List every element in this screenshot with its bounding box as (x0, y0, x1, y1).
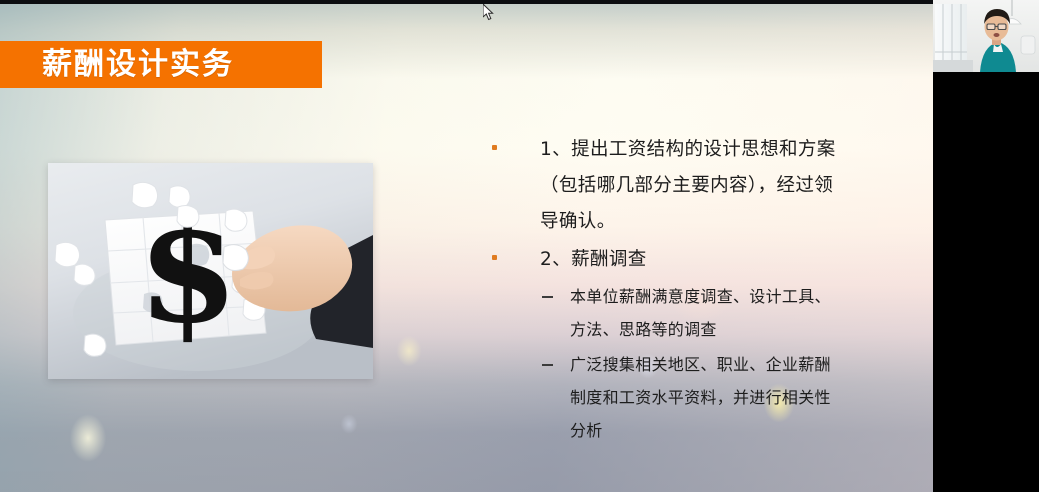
list-item-line: 导确认。 (540, 204, 900, 240)
shared-slide-area: 薪酬设计实务 (0, 0, 933, 492)
list-item: 1、提出工资结构的设计思想和方案 （包括哪几部分主要内容），经过领 导确认。 (480, 132, 900, 240)
list-item-line: 本单位薪酬满意度调查、设计工具、 (570, 280, 900, 313)
dollar-puzzle-photo: $ (48, 163, 373, 379)
webcam-video-tile[interactable] (933, 0, 1039, 72)
list-item-line: 方法、思路等的调查 (570, 313, 900, 346)
page-title: 薪酬设计实务 (0, 50, 234, 80)
slide-body-content: 1、提出工资结构的设计思想和方案 （包括哪几部分主要内容），经过领 导确认。 2… (480, 132, 900, 447)
participant-column (933, 0, 1039, 492)
bullet-dot-icon (492, 145, 497, 150)
bullet-dot-icon (492, 255, 497, 260)
mouse-pointer-icon (483, 4, 495, 22)
slide-top-edge-strip (0, 0, 933, 4)
slide-title-banner: 薪酬设计实务 (0, 41, 322, 88)
list-item-line: 广泛搜集相关地区、职业、企业薪酬 (570, 348, 900, 381)
bullet-dash-icon (542, 364, 553, 366)
list-item: 本单位薪酬满意度调查、设计工具、 方法、思路等的调查 (480, 280, 900, 346)
list-item-line: 2、薪酬调查 (540, 242, 900, 278)
list-item-line: 制度和工资水平资料，并进行相关性 (570, 381, 900, 414)
list-item: 广泛搜集相关地区、职业、企业薪酬 制度和工资水平资料，并进行相关性 分析 (480, 348, 900, 447)
list-item-line: 1、提出工资结构的设计思想和方案 (540, 132, 900, 168)
empty-participant-area (933, 72, 1039, 492)
bullet-dash-icon (542, 296, 553, 298)
list-item-line: （包括哪几部分主要内容），经过领 (540, 168, 900, 204)
list-item: 2、薪酬调查 (480, 242, 900, 278)
list-item-line: 分析 (570, 414, 900, 447)
